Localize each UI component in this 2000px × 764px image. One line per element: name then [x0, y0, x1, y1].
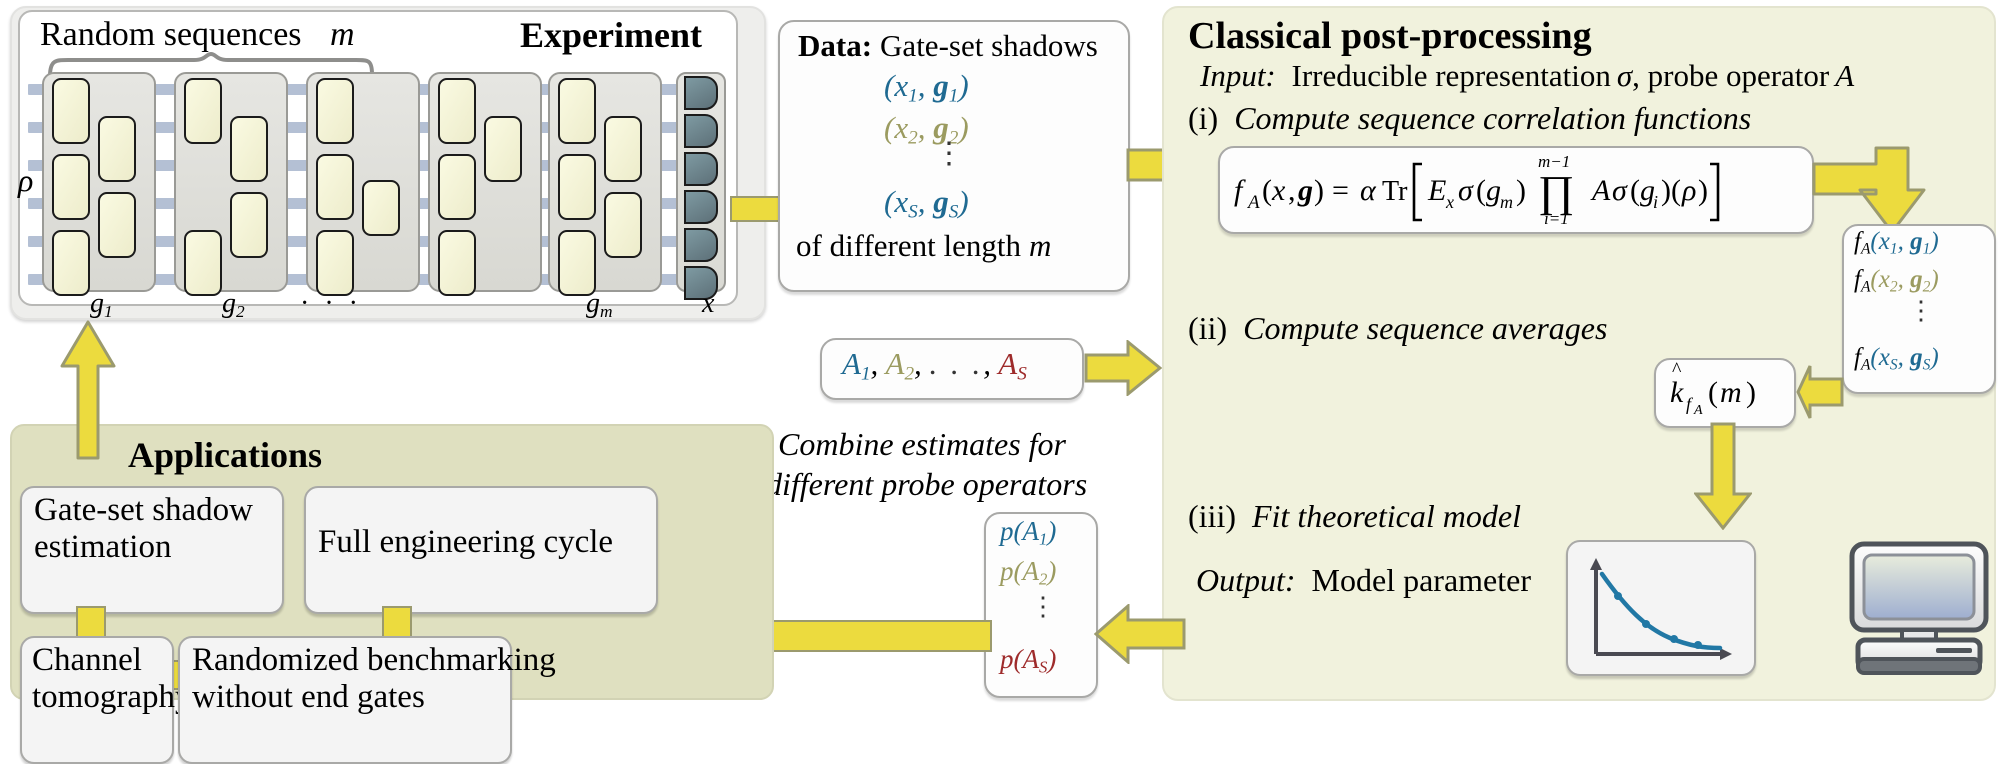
svg-text:A: A: [1246, 192, 1260, 213]
applications-title: Applications: [128, 434, 322, 476]
combine-line-2: different probe operators: [766, 466, 1087, 503]
data-row-s: (xS, gS): [884, 184, 969, 223]
post-step-1-num: (i): [1188, 100, 1218, 136]
measurement-icon: [684, 114, 718, 148]
svg-text:A: A: [1693, 403, 1703, 418]
svg-text:): ): [1746, 376, 1756, 409]
arrow-formula-to-falist: [1812, 146, 1932, 236]
measurement-icon: [684, 152, 718, 186]
data-point: [1642, 620, 1650, 628]
gate-block: [230, 192, 268, 258]
experiment-title: Experiment: [520, 14, 702, 56]
svg-text:): ): [1698, 174, 1708, 207]
fa-row-1: fA(x1, g1): [1854, 228, 1939, 258]
experiment-length-symbol: m: [330, 16, 355, 54]
data-box-title-rest: Gate-set shadows: [880, 28, 1098, 63]
application-label-3-line2: tomography: [32, 679, 191, 716]
gate-label-g1: g1: [90, 288, 113, 322]
gate-block: [438, 230, 476, 296]
svg-text:): ): [1516, 174, 1526, 207]
combine-line-1: Combine estimates for: [778, 426, 1066, 463]
post-input-text2: , probe operator: [1632, 58, 1829, 93]
gate-block: [438, 78, 476, 144]
svg-text:σ: σ: [1458, 174, 1474, 207]
gate-block: [558, 230, 596, 296]
svg-text:(: (: [1262, 174, 1272, 207]
post-step-1: (i) Compute sequence correlation functio…: [1188, 100, 1751, 137]
post-title: Classical post-processing: [1188, 14, 1592, 58]
data-row-ellipsis: ⋮: [934, 146, 964, 163]
gate-block: [98, 192, 136, 258]
arrow-post-to-pbox: [1094, 604, 1186, 664]
svg-text:i=1: i=1: [1544, 209, 1569, 226]
application-label-1: Gate-set shadow estimation: [34, 492, 253, 566]
gate-block: [604, 192, 642, 258]
svg-text:x: x: [1445, 192, 1454, 212]
svg-text:(: (: [1708, 376, 1718, 409]
application-label-4-line1: Randomized benchmarking: [192, 642, 556, 679]
data-box-footer: of different lengthm: [796, 228, 1051, 264]
gate-label-gm: gm: [586, 288, 613, 322]
measurement-icon: [684, 228, 718, 262]
application-label-1-line2: estimation: [34, 529, 253, 566]
application-label-3: Channel tomography: [32, 642, 191, 716]
post-input-sigma: σ: [1617, 58, 1632, 93]
post-step-1-text: Compute sequence correlation functions: [1234, 100, 1751, 136]
svg-text:Tr: Tr: [1382, 176, 1408, 207]
svg-text:m: m: [1500, 192, 1513, 212]
data-row-1: (x1, g1): [884, 68, 969, 107]
experiment-subtitle: Random sequences: [40, 16, 302, 54]
measure-label-x: x: [702, 288, 714, 320]
estimator-expression: ^ k f A ( m ): [1668, 362, 1782, 420]
data-box-footer-text: of different length: [796, 228, 1021, 263]
svg-text:,: ,: [1288, 174, 1296, 207]
gate-block: [438, 154, 476, 220]
gate-block: [230, 116, 268, 182]
post-input-label: Input:: [1200, 58, 1276, 93]
computer-icon: [1844, 540, 1994, 678]
post-input-text: Irreducible representation: [1292, 58, 1611, 93]
application-label-1-line1: Gate-set shadow: [34, 492, 253, 529]
post-input-line: Input: Irreducible representationσ, prob…: [1200, 58, 1854, 94]
svg-text:x: x: [1271, 174, 1286, 207]
data-point: [1694, 641, 1702, 649]
application-label-2: Full engineering cycle: [318, 524, 613, 561]
fa-row-ellipsis: ⋮: [1908, 296, 1934, 326]
svg-text:α: α: [1360, 174, 1377, 207]
gate-block: [316, 78, 354, 144]
gate-block: [604, 116, 642, 182]
svg-text:ρ: ρ: [1681, 174, 1696, 207]
formula-expression: f A ( x , g ) = α Tr E x σ ( g m ) m−1 ∏…: [1232, 150, 1798, 226]
decay-plot: [1574, 546, 1746, 666]
svg-text:f: f: [1686, 394, 1694, 414]
p-row-ellipsis: ⋮: [1030, 592, 1056, 622]
svg-text:A: A: [1590, 174, 1611, 207]
fa-row-2: fA(x2, g2): [1854, 266, 1939, 296]
application-label-4: Randomized benchmarking without end gate…: [192, 642, 556, 716]
p-row-1: p(A1): [1000, 516, 1056, 550]
svg-text:): ): [1314, 174, 1324, 207]
gate-label-g2: g2: [222, 288, 245, 322]
arrow-probe-to-post: [1084, 340, 1162, 396]
gate-block: [484, 116, 522, 182]
post-step-3-num: (iii): [1188, 498, 1236, 534]
quantum-circuit: [28, 72, 728, 294]
post-input-operator-a: A: [1835, 58, 1854, 93]
gate-block: [316, 230, 354, 296]
data-point: [1614, 592, 1622, 600]
svg-text:σ: σ: [1612, 174, 1628, 207]
arrow-apps-to-experiment: [58, 320, 118, 460]
gate-block: [558, 78, 596, 144]
gate-block: [98, 116, 136, 182]
svg-text:k: k: [1670, 376, 1684, 409]
gate-block: [52, 154, 90, 220]
gate-block: [558, 154, 596, 220]
p-row-s: p(AS): [1000, 644, 1056, 678]
application-label-4-line2: without end gates: [192, 679, 556, 716]
arrow-estimator-to-plot: [1694, 422, 1752, 530]
post-output-label: Output:: [1196, 562, 1296, 598]
gate-block: [362, 180, 400, 236]
p-row-2: p(A2): [1000, 556, 1056, 590]
svg-text:=: =: [1332, 174, 1349, 207]
arrow-falist-to-estimator: [1796, 364, 1844, 420]
post-step-3: (iii) Fit theoretical model: [1188, 498, 1521, 535]
gate-block: [52, 230, 90, 296]
svg-text:E: E: [1427, 174, 1446, 207]
post-step-2: (ii) Compute sequence averages: [1188, 310, 1607, 347]
svg-text:f: f: [1234, 174, 1246, 207]
gate-block: [184, 78, 222, 144]
probe-operator-list: A1, A2, . . ., AS: [842, 346, 1027, 385]
gate-block: [316, 154, 354, 220]
measurement-icon: [684, 190, 718, 224]
gate-block: [52, 78, 90, 144]
data-box-title-label: Data:: [798, 28, 872, 63]
post-output-text: Model parameter: [1312, 562, 1531, 598]
svg-text:g: g: [1486, 174, 1501, 207]
post-step-2-text: Compute sequence averages: [1243, 310, 1607, 346]
fa-row-s: fA(xS, gS): [1854, 344, 1939, 374]
svg-text:i: i: [1653, 192, 1658, 212]
svg-text:(: (: [1630, 174, 1640, 207]
application-label-3-line1: Channel: [32, 642, 191, 679]
post-step-3-text: Fit theoretical model: [1252, 498, 1521, 534]
gate-block: [184, 230, 222, 296]
data-point: [1670, 635, 1678, 643]
data-box-title: Data:Gate-set shadows: [798, 28, 1098, 64]
svg-text:m: m: [1720, 376, 1742, 409]
svg-text:)(: )(: [1661, 174, 1681, 207]
gate-label-ellipsis: · · ·: [300, 288, 362, 320]
svg-text:(: (: [1476, 174, 1486, 207]
measurement-icon: [684, 76, 718, 110]
post-step-2-num: (ii): [1188, 310, 1227, 346]
post-output: Output: Model parameter: [1196, 562, 1531, 599]
data-box-footer-symbol: m: [1029, 228, 1051, 263]
svg-text:g: g: [1297, 174, 1313, 207]
